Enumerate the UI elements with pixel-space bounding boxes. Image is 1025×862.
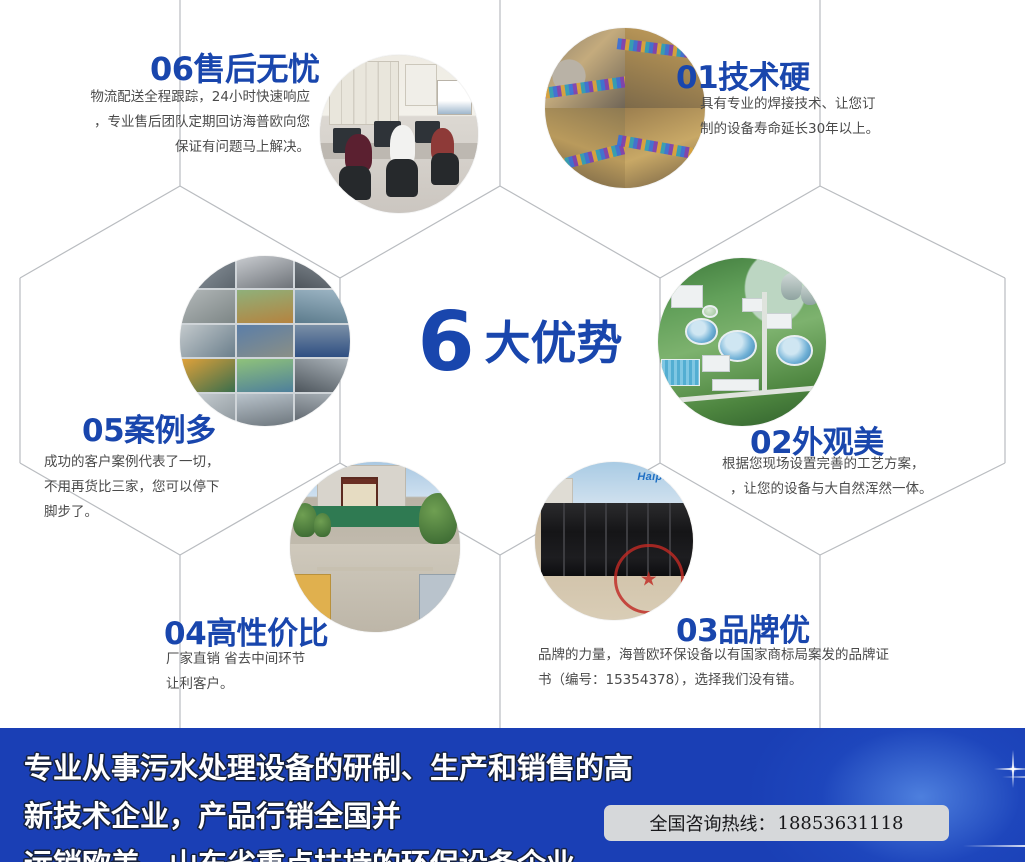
hotline-box[interactable]: 全国咨询热线： 18853631118 <box>604 805 949 841</box>
advantage-body-04-line1: 厂家直销 省去中间环节 <box>166 647 426 672</box>
advantage-body-06-line3: 保证有问题马上解决。 <box>18 135 310 160</box>
center-label: 6 大优势 <box>390 288 650 398</box>
center-text: 大优势 <box>485 315 623 371</box>
advantage-body-03: 品牌的力量，海普欧环保设备以有国家商标局案发的品牌证 书（编号：15354378… <box>538 643 1008 693</box>
center-number: 6 <box>417 302 474 384</box>
advantage-body-03-line2: 书（编号：15354378），选择我们没有错。 <box>538 668 1008 693</box>
trademark-seal: ★ <box>614 544 684 614</box>
advantage-body-02-line1: 根据您现场设置完善的工艺方案， <box>722 452 1022 477</box>
advantage-body-06-line1: 物流配送全程跟踪，24小时快速响应 <box>18 85 310 110</box>
outer-edge-left <box>20 186 180 278</box>
advantage-body-05: 成功的客户案例代表了一切， 不用再货比三家，您可以停下 脚步了。 <box>44 450 324 525</box>
infographic-root: 06售后无忧 物流配送全程跟踪，24小时快速响应 ，专业售后团队定期回访海普欧向… <box>0 0 1025 862</box>
haipuou-logo: Haipuou <box>637 471 683 483</box>
office-team-photo <box>320 55 478 213</box>
banner-text-line1: 专业从事污水处理设备的研制、生产和销售的高新技术企业，产品行销全国并 <box>24 744 644 840</box>
advantage-body-01: 具有专业的焊接技术、让您订 制的设备寿命延长30年以上。 <box>700 92 1000 142</box>
advantage-body-05-line2: 不用再货比三家，您可以停下 <box>44 475 324 500</box>
advantage-body-05-line1: 成功的客户案例代表了一切， <box>44 450 324 475</box>
advantage-body-06-line2: ，专业售后团队定期回访海普欧向您 <box>18 110 310 135</box>
advantage-body-06: 物流配送全程跟踪，24小时快速响应 ，专业售后团队定期回访海普欧向您 保证有问题… <box>18 85 310 160</box>
hotline-number: 18853631118 <box>778 813 904 834</box>
aerial-treatment-plant-photo <box>658 258 826 426</box>
advantage-heading-01: 01技术硬 <box>676 52 810 97</box>
advantage-body-02-line2: ，让您的设备与大自然浑然一体。 <box>730 477 1022 502</box>
advantage-body-02: 根据您现场设置完善的工艺方案， ，让您的设备与大自然浑然一体。 <box>722 452 1022 502</box>
advantage-heading-05: 05案例多 <box>82 405 216 450</box>
advantage-body-01-line2: 制的设备寿命延长30年以上。 <box>700 117 1000 142</box>
advantage-body-03-line1: 品牌的力量，海普欧环保设备以有国家商标局案发的品牌证 <box>538 643 1008 668</box>
case-collage-photo <box>180 256 350 426</box>
advantage-body-01-line1: 具有专业的焊接技术、让您订 <box>700 92 1000 117</box>
advantage-heading-06: 06售后无忧 <box>150 44 320 90</box>
outer-edge-right <box>820 186 1005 278</box>
advantage-body-05-line3: 脚步了。 <box>44 500 324 525</box>
banner-text: 专业从事污水处理设备的研制、生产和销售的高新技术企业，产品行销全国并 远销欧美，… <box>24 744 644 862</box>
black-tank-equipment-photo: Haipuou ★ <box>535 462 693 620</box>
bottom-banner: 专业从事污水处理设备的研制、生产和销售的高新技术企业，产品行销全国并 远销欧美，… <box>0 728 1025 862</box>
advantage-body-04-line2: 让利客户。 <box>166 672 426 697</box>
hotline-label: 全国咨询热线： <box>650 810 776 836</box>
advantage-body-04: 厂家直销 省去中间环节 让利客户。 <box>166 647 426 697</box>
sparkle-icon-small <box>992 748 1025 790</box>
banner-text-line2: 远销欧美，山东省重点扶持的环保设备企业。 <box>24 840 644 862</box>
